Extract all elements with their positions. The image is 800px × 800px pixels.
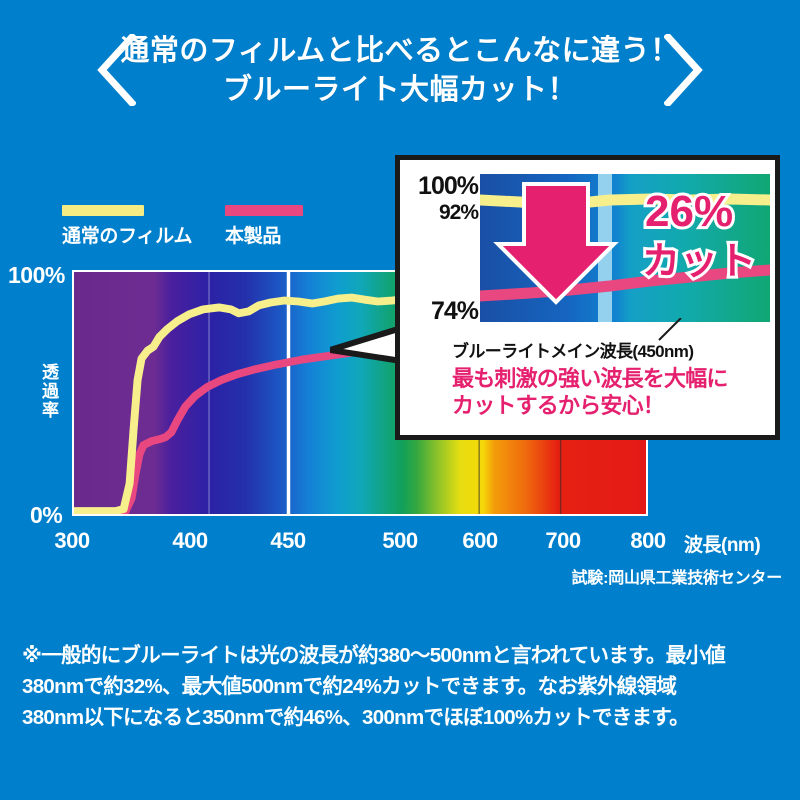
y-axis-label-100: 100% — [8, 262, 65, 289]
headline-wrap: 通常のフィルムと比べるとこんなに違う！ ブルーライト大幅カット！ — [100, 18, 700, 123]
x-tick-450: 450 — [270, 528, 305, 554]
inset-y-labels: 100% 92% 74% — [406, 172, 478, 322]
page-title: 通常のフィルムと比べるとこんなに違う！ ブルーライト大幅カット！ — [120, 32, 679, 109]
inset-label-74: 74% — [406, 297, 478, 326]
x-tick-400: 400 — [172, 528, 207, 554]
x-tick-600: 600 — [462, 528, 497, 554]
x-tick-500: 500 — [382, 528, 417, 554]
cut-percent-value: 26% — [645, 187, 733, 236]
chart-credit: 試験:岡山県工業技術センター — [0, 564, 782, 588]
bracket-right-icon — [664, 34, 708, 106]
cut-percent-unit: カット — [642, 241, 756, 283]
page-root: 通常のフィルムと比べるとこんなに違う！ ブルーライト大幅カット！ 通常のフィルム… — [0, 0, 800, 800]
caption-wavelength: ブルーライトメイン波長(450nm) — [452, 337, 782, 362]
callout-box: 100% 92% 74% — [395, 155, 780, 440]
legend-swatch-yellow — [62, 205, 144, 216]
legend-item-product: 本製品 — [225, 205, 303, 248]
header-banner: 通常のフィルムと比べるとこんなに違う！ ブルーライト大幅カット！ — [0, 18, 800, 123]
footnote-text: ※一般的にブルーライトは光の波長が約380〜500nmと言われています。最小値 … — [22, 640, 782, 733]
inset-label-100: 100% — [406, 172, 478, 201]
inset-label-92: 92% — [406, 201, 478, 225]
legend-label-normal-film: 通常のフィルム — [62, 221, 192, 248]
legend-label-product: 本製品 — [225, 221, 303, 248]
callout-caption: ブルーライトメイン波長(450nm) 最も刺激の強い波長を大幅に カットするから… — [452, 337, 782, 420]
x-tick-800: 800 — [630, 528, 665, 554]
inset-plot-area: 26% カット — [480, 174, 770, 322]
x-axis-ticks: 300 400 450 500 600 700 800 波長(nm) — [0, 528, 800, 558]
chart-legend: 通常のフィルム 本製品 — [62, 205, 382, 261]
legend-item-normal-film: 通常のフィルム — [62, 205, 192, 248]
y-axis-label-0: 0% — [30, 502, 62, 529]
x-axis-unit-label: 波長(nm) — [684, 530, 760, 557]
caption-benefit: 最も刺激の強い波長を大幅に カットするから安心！ — [452, 366, 782, 420]
legend-swatch-pink — [225, 205, 303, 216]
y-axis-title: 透過率 — [36, 363, 61, 420]
x-tick-700: 700 — [545, 528, 580, 554]
x-tick-300: 300 — [54, 528, 89, 554]
